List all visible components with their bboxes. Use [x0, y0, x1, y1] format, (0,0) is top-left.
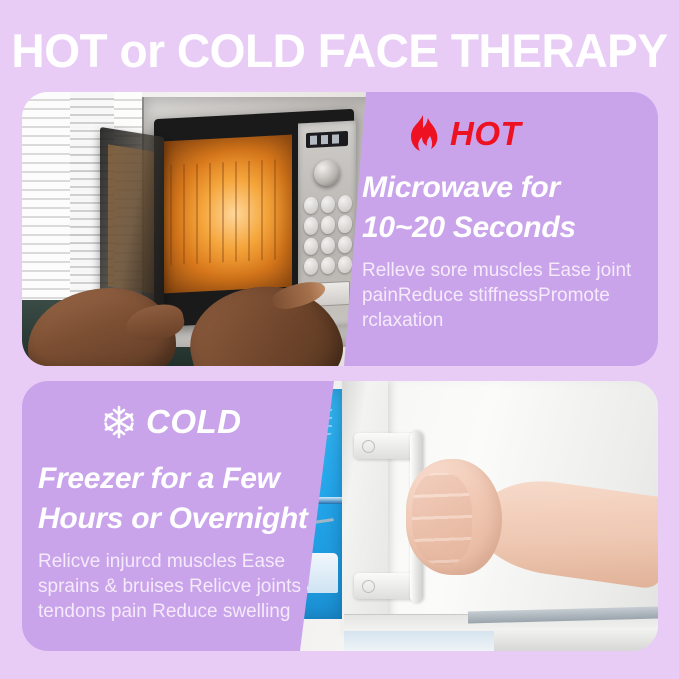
snowflake-icon: [102, 403, 136, 441]
page-title: HOT or COLD FACE THERAPY: [7, 24, 672, 78]
cold-headline: Freezer for a Few Hours or Overnight: [38, 459, 328, 539]
cold-therapy-card: COLD Freezer for a Few Hours or Overnigh…: [22, 381, 658, 651]
finger-detail: [412, 473, 472, 565]
microwave-keypad: [304, 195, 352, 276]
keypad-key: [321, 216, 335, 234]
keypad-key: [304, 197, 318, 215]
cold-body-text: Relicve injurcd muscles Ease sprains & b…: [38, 549, 330, 624]
keypad-key: [338, 255, 352, 273]
keypad-key: [338, 235, 352, 253]
microwave-rack: [170, 159, 286, 265]
cold-text-panel: COLD Freezer for a Few Hours or Overnigh…: [22, 381, 334, 651]
infographic-page: { "page": { "title": "HOT or COLD FACE T…: [0, 0, 679, 679]
keypad-key: [304, 217, 318, 235]
keypad-key: [304, 257, 318, 275]
freezer-floor: [344, 631, 494, 651]
keypad-key: [338, 215, 352, 233]
hot-body-text: Relleve sore muscles Ease joint painRedu…: [362, 258, 646, 333]
flame-icon: [406, 114, 440, 154]
hot-badge-label: HOT: [450, 115, 521, 153]
keypad-key: [338, 195, 352, 213]
keypad-key: [304, 237, 318, 255]
microwave-display: [306, 131, 348, 148]
hot-text-panel: HOT Microwave for 10~20 Seconds Relleve …: [344, 92, 658, 366]
keypad-key: [321, 196, 335, 214]
cold-badge: COLD: [102, 403, 242, 441]
microwave-door-glass: [108, 144, 154, 293]
cold-badge-label: COLD: [146, 403, 242, 441]
hot-therapy-card: HOT Microwave for 10~20 Seconds Relleve …: [22, 92, 658, 366]
hot-headline: Microwave for 10~20 Seconds: [362, 168, 642, 248]
keypad-key: [321, 236, 335, 254]
hot-badge: HOT: [406, 114, 521, 154]
keypad-key: [321, 256, 335, 274]
